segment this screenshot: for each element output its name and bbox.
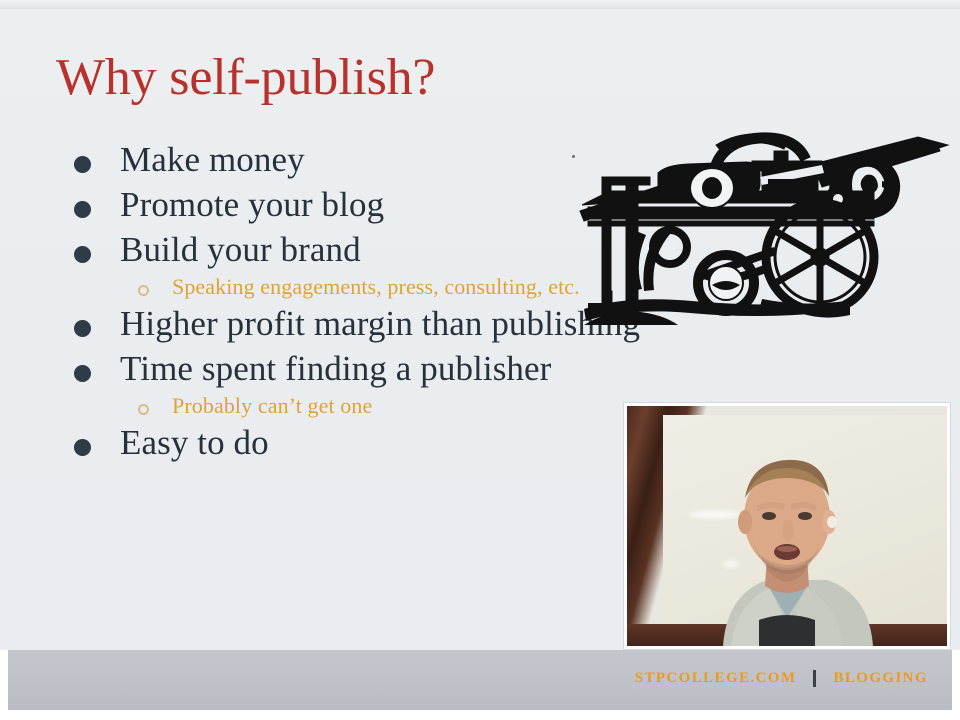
bullet-dot-icon — [74, 365, 91, 382]
footer-separator — [813, 670, 816, 687]
top-chrome-strip — [0, 0, 960, 9]
bullet-dot-icon — [74, 320, 91, 337]
footer-section-label: BLOGGING — [833, 670, 928, 687]
list-item: Make money — [62, 138, 642, 182]
bullet-dot-icon — [74, 201, 91, 218]
list-item: Higher profit margin than publishing — [62, 302, 642, 346]
sub-list-item: Probably can’t get one — [62, 392, 642, 419]
list-item: Promote your blog — [62, 183, 642, 227]
presentation-screen: Why self-publish? Make money Promote you… — [0, 0, 960, 720]
footer-credits: STPCOLLEGE.COM BLOGGING — [635, 670, 928, 687]
sub-bullet-text: Probably can’t get one — [172, 392, 642, 419]
bullet-text: Make money — [120, 138, 642, 182]
footer-site-link[interactable]: STPCOLLEGE.COM — [635, 670, 797, 687]
list-item: Time spent finding a publisher — [62, 347, 642, 391]
sub-list-item: Speaking engagements, press, consulting,… — [62, 273, 642, 300]
bullet-list: Make money Promote your blog Build your … — [62, 138, 642, 466]
bullet-text: Easy to do — [120, 421, 642, 465]
slide-footer-bar: STPCOLLEGE.COM BLOGGING — [8, 650, 952, 710]
bullet-dot-icon — [74, 246, 91, 263]
presenter-webcam-feed[interactable] — [624, 403, 950, 649]
bullet-dot-icon — [74, 156, 91, 173]
bullet-dot-icon — [74, 439, 91, 456]
slide-title: Why self-publish? — [56, 51, 435, 106]
list-item: Build your brand — [62, 228, 642, 272]
list-item: Easy to do — [62, 421, 642, 465]
slide-canvas: Why self-publish? Make money Promote you… — [0, 9, 960, 650]
bullet-text: Promote your blog — [120, 183, 642, 227]
presenter-figure — [627, 406, 947, 646]
bottom-chrome-strip — [0, 710, 960, 720]
hollow-bullet-icon — [138, 285, 149, 296]
bullet-text: Higher profit margin than publishing — [120, 302, 642, 346]
bullet-text: Build your brand — [120, 228, 642, 272]
hollow-bullet-icon — [138, 404, 149, 415]
webcam-video-frame — [627, 406, 947, 646]
printing-press-image — [566, 121, 958, 333]
bullet-text: Time spent finding a publisher — [120, 347, 642, 391]
